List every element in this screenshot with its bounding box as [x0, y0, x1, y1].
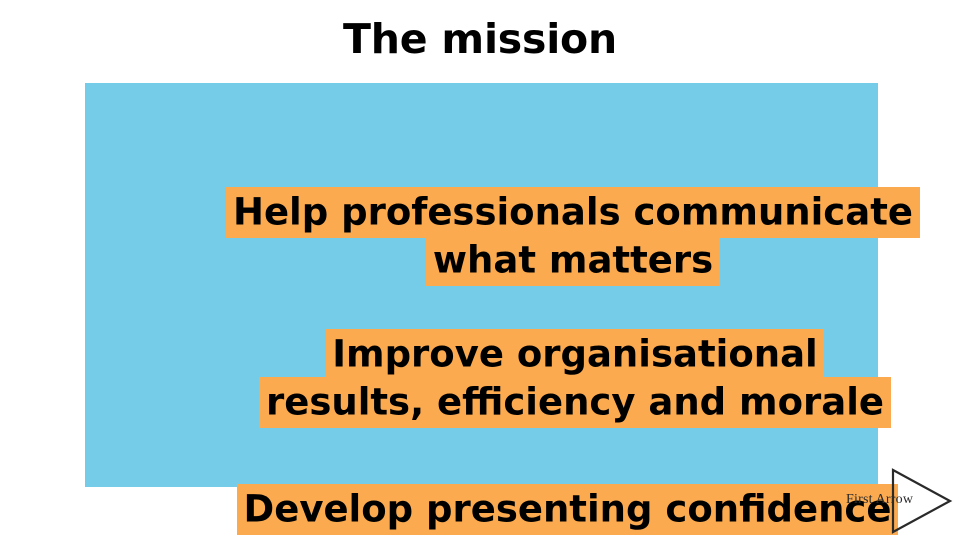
- page-title: The mission: [0, 18, 960, 61]
- statement-line-text: Improve organisational: [326, 329, 825, 379]
- slide-canvas: The mission Help professionals communica…: [0, 0, 960, 540]
- brand-logo: First Arrow: [846, 466, 954, 536]
- statement-line-text: what matters: [426, 235, 720, 285]
- statement-block-1: Help professionals communicate what matt…: [183, 189, 960, 285]
- statement-line: what matters: [183, 237, 960, 285]
- statement-line: Help professionals communicate: [183, 189, 960, 237]
- statement-line-text: results, efficiency and morale: [259, 377, 890, 427]
- statement-line-text: Help professionals communicate: [226, 187, 919, 237]
- statement-line-text: Develop presenting confidence: [237, 484, 898, 534]
- brand-logo-text: First Arrow: [846, 492, 913, 508]
- statement-block-2: Improve organisational results, efficien…: [195, 331, 955, 427]
- statement-line: Improve organisational: [195, 331, 955, 379]
- statement-line: Develop presenting confidence: [185, 486, 950, 534]
- content-panel: Help professionals communicate what matt…: [85, 83, 878, 487]
- statement-block-3: Develop presenting confidence: [185, 486, 950, 534]
- statement-line: results, efficiency and morale: [195, 379, 955, 427]
